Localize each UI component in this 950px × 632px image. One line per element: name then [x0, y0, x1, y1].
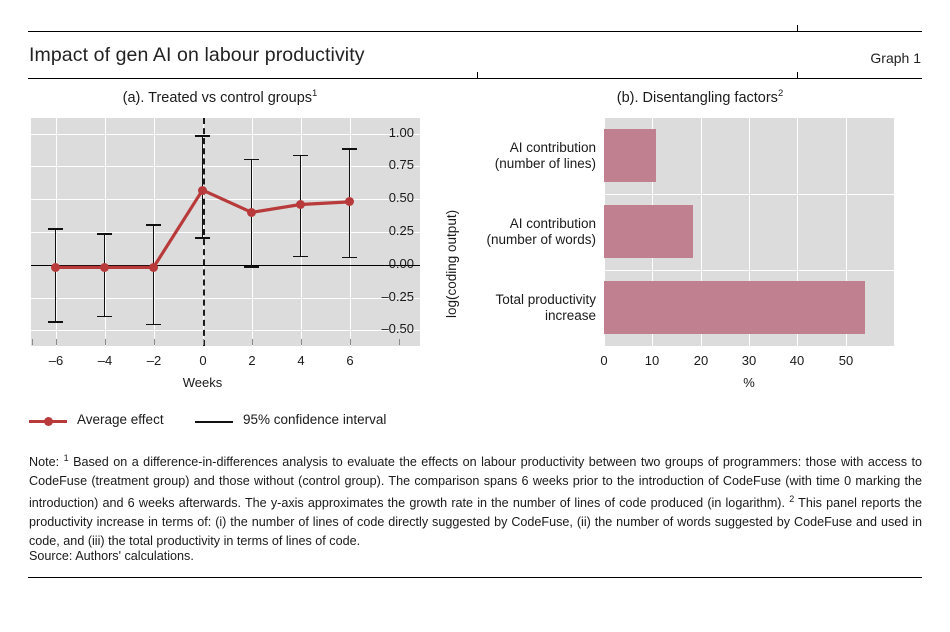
- legend-average-effect-marker: [44, 417, 53, 426]
- page-title: Impact of gen AI on labour productivity: [29, 44, 365, 67]
- panel-a-error-cap-top-3: [195, 135, 210, 137]
- panel-b-category-label-2: Total productivityincrease: [354, 292, 596, 324]
- panel-a-x-tickmark-6: [350, 339, 351, 345]
- panel-b-gridline-h-1: [604, 194, 894, 195]
- panel-a-error-cap-bottom-6: [342, 257, 357, 259]
- panel-b-x-tick-label-0: 0: [580, 353, 628, 368]
- panel-a-data-point-3: [198, 186, 207, 195]
- header-rule-under-title: [28, 78, 922, 79]
- panel-a-x-tickmark-0: [56, 339, 57, 345]
- panel-a-x-tick-label-3: 0: [179, 353, 227, 368]
- panel-b-bar-1: [604, 205, 693, 258]
- header-tick-top: [797, 25, 798, 32]
- panel-b-footnote-marker: 2: [778, 88, 783, 99]
- panel-a-x-tickmark-start: [32, 339, 33, 345]
- panel-a-error-cap-bottom-0: [48, 321, 63, 323]
- panel-b-category-label-1: AI contribution(number of words): [354, 216, 596, 248]
- panel-b-title-text: (b). Disentangling factors: [617, 90, 778, 106]
- panel-b-x-tick-label-2: 20: [677, 353, 725, 368]
- panel-a-x-tickmark-4: [252, 339, 253, 345]
- legend-confidence-interval-line: [195, 421, 233, 423]
- panel-a-x-tick-label-5: 4: [277, 353, 325, 368]
- panel-b-bar-0: [604, 129, 656, 182]
- note-label: Note:: [29, 455, 59, 469]
- panel-b-x-tick-label-4: 40: [773, 353, 821, 368]
- panel-a-error-cap-top-4: [244, 159, 259, 161]
- panel-a-data-point-0: [51, 263, 60, 272]
- panel-a-x-tickmark-1: [105, 339, 106, 345]
- panel-a-error-cap-bottom-2: [146, 324, 161, 326]
- panel-a-error-cap-top-5: [293, 155, 308, 157]
- note-marker-2: 2: [789, 494, 794, 504]
- panel-a-x-tickmark-5: [301, 339, 302, 345]
- panel-a-error-cap-top-0: [48, 228, 63, 230]
- note-marker-1: 1: [64, 453, 69, 463]
- panel-a-error-bar-0: [55, 228, 57, 321]
- graph-page: Impact of gen AI on labour productivity …: [0, 0, 950, 632]
- source-line: Source: Authors' calculations.: [29, 549, 194, 563]
- panel-b-x-tick-label-3: 30: [725, 353, 773, 368]
- panel-a-data-point-5: [296, 200, 305, 209]
- panel-a-error-cap-bottom-5: [293, 256, 308, 258]
- footer-rule: [28, 577, 922, 578]
- legend-confidence-interval-label: 95% confidence interval: [243, 412, 386, 427]
- panel-a-error-cap-bottom-4: [244, 266, 259, 268]
- panel-a-x-tickmark-end: [399, 339, 400, 345]
- legend-average-effect-label: Average effect: [77, 412, 164, 427]
- note-block: Note: 1 Based on a difference-in-differe…: [29, 449, 922, 550]
- panel-a-error-cap-bottom-1: [97, 316, 112, 318]
- panel-a-error-cap-top-1: [97, 233, 112, 235]
- graph-number: Graph 1: [870, 50, 921, 66]
- panel-a-error-bar-2: [153, 224, 155, 324]
- panel-a-x-tick-label-0: –6: [32, 353, 80, 368]
- panel-b-x-tick-label-5: 50: [822, 353, 870, 368]
- panel-a-event-line: [203, 118, 205, 346]
- panel-a-error-bar-1: [104, 233, 106, 316]
- panel-a-data-point-4: [247, 208, 256, 217]
- panel-a-y-tick-label-6: 1.00: [338, 125, 414, 140]
- header-rule-top: [28, 31, 922, 32]
- panel-a-error-cap-top-2: [146, 224, 161, 226]
- panel-a-title-text: (a). Treated vs control groups: [123, 90, 312, 106]
- panel-a-x-axis-title: Weeks: [143, 375, 263, 390]
- panel-b-x-tick-label-1: 10: [628, 353, 676, 368]
- panel-b-title: (b). Disentangling factors2: [470, 88, 930, 106]
- panel-b-x-axis-title: %: [689, 375, 809, 390]
- panel-b-bar-2: [604, 281, 865, 334]
- panel-a-error-cap-bottom-3: [195, 237, 210, 239]
- header-tick-mid-left: [477, 72, 478, 79]
- panel-a-data-point-1: [100, 263, 109, 272]
- panel-a-x-tickmark-3: [203, 339, 204, 345]
- panel-b-gridline-h-2: [604, 270, 894, 271]
- panel-a-footnote-marker: 1: [312, 88, 317, 99]
- header-tick-mid-right: [797, 72, 798, 79]
- panel-b-category-label-0: AI contribution(number of lines): [354, 140, 596, 172]
- panel-a-x-tick-label-1: –4: [81, 353, 129, 368]
- panel-a-title: (a). Treated vs control groups1: [0, 88, 440, 106]
- panel-a-data-point-2: [149, 263, 158, 272]
- panel-a-x-tick-label-4: 2: [228, 353, 276, 368]
- panel-a-x-tickmark-2: [154, 339, 155, 345]
- panel-a-x-tick-label-2: –2: [130, 353, 178, 368]
- panel-a-x-tick-label-6: 6: [326, 353, 374, 368]
